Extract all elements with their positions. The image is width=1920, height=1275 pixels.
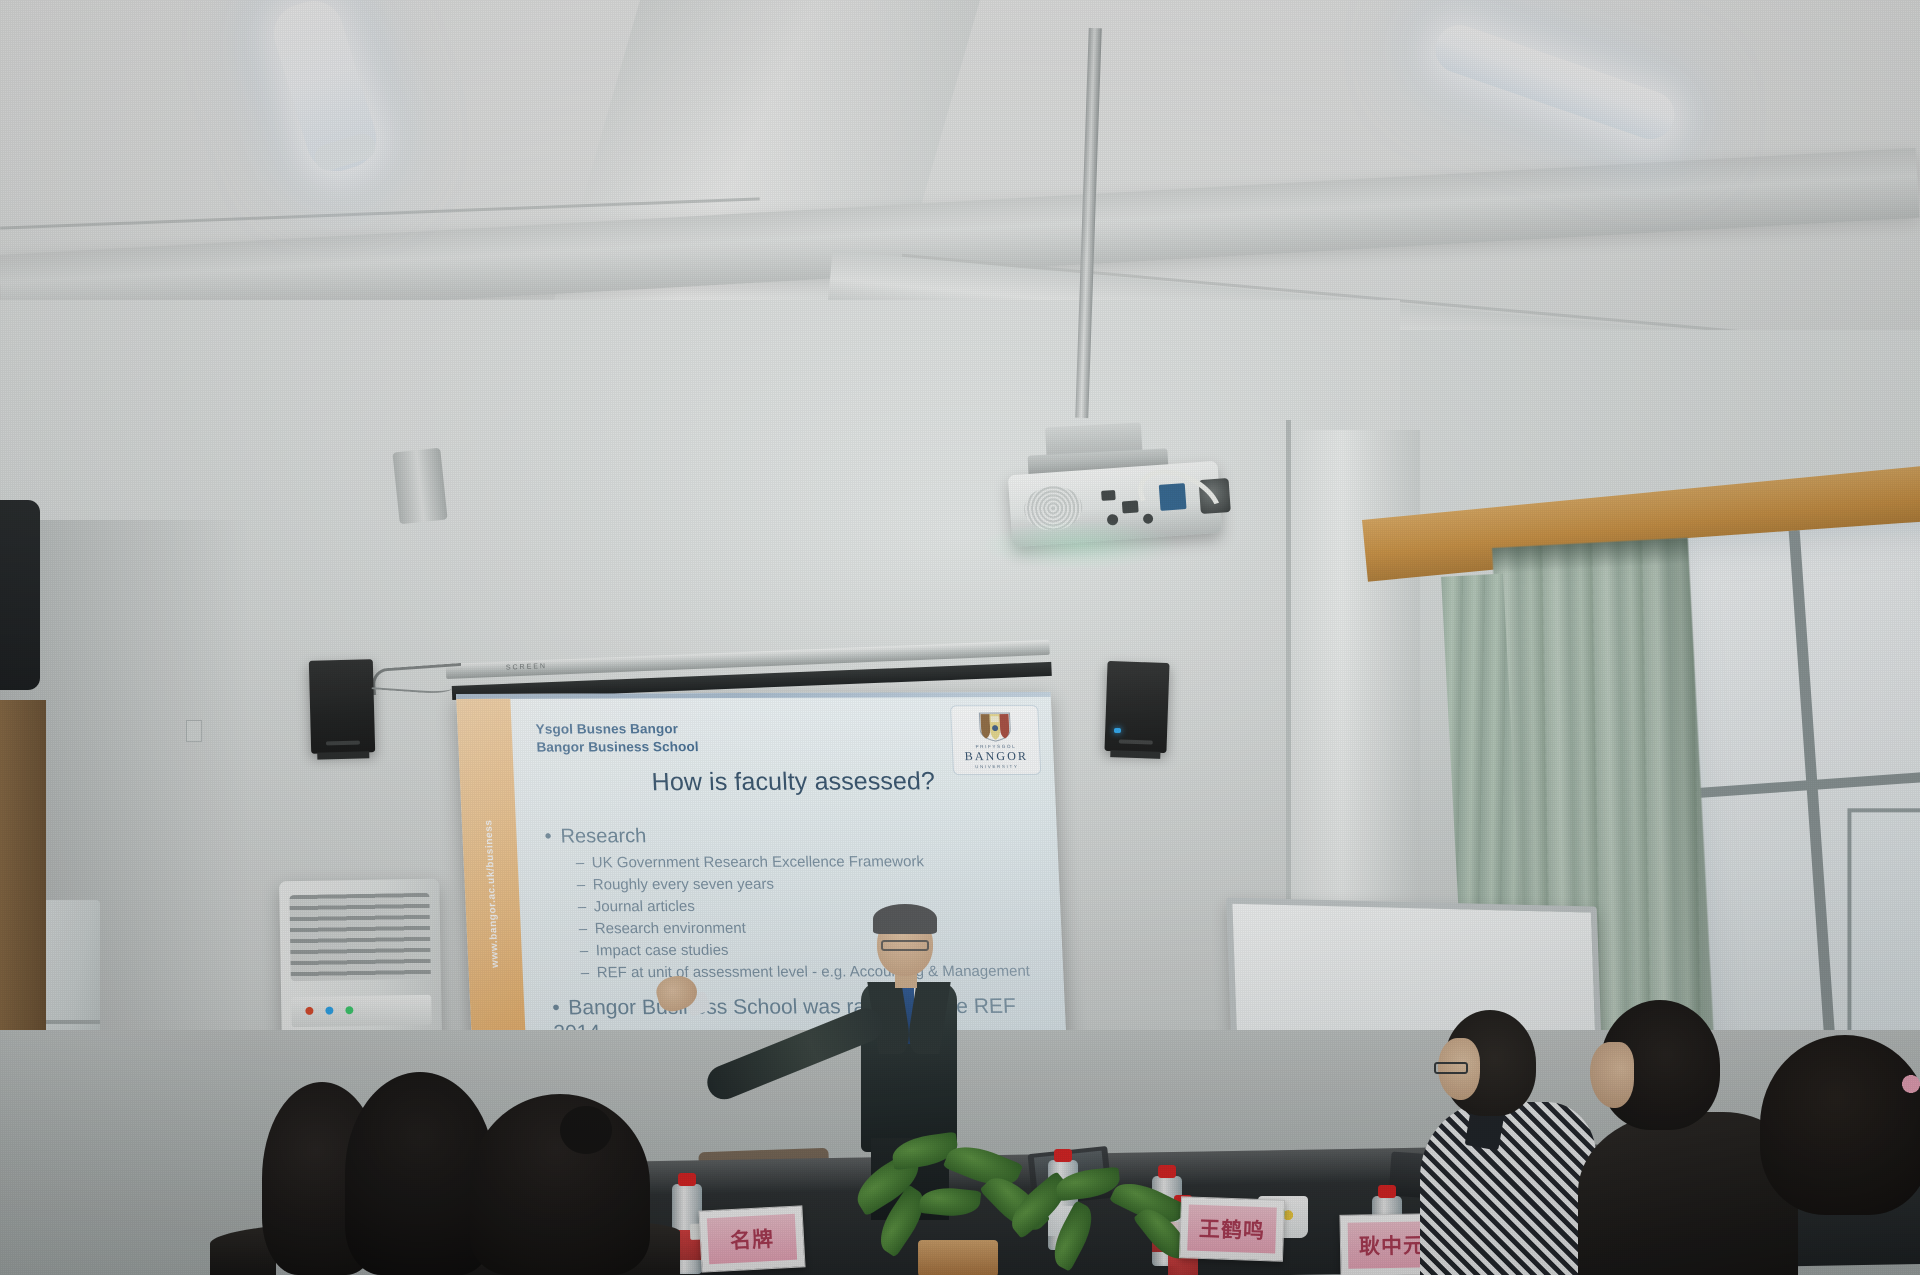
projector-port-2 — [1122, 500, 1139, 513]
lecture-room-photo: SCREEN www.bangor.ac.uk/business PRIFYSG… — [0, 0, 1920, 1275]
presenter-hair — [873, 904, 937, 934]
glasses-icon — [881, 940, 929, 951]
bullet-level2-item: –Roughly every seven years — [576, 874, 1043, 893]
name-tent: 王鹤鸣 — [1179, 1196, 1285, 1262]
bullet-text: Research — [560, 825, 647, 847]
dash-icon: – — [578, 920, 595, 937]
dash-icon: – — [575, 854, 592, 871]
bullet-level2-item: –REF at unit of assessment level - e.g. … — [580, 962, 1047, 981]
wall-speaker-right — [1104, 661, 1169, 753]
plant-leaf — [919, 1185, 982, 1219]
wall-speaker-left — [309, 659, 375, 754]
bullet-text: UK Government Research Excellence Framew… — [591, 853, 924, 871]
slide-surface: www.bangor.ac.uk/business PRIFYSGOL BANG… — [456, 692, 1068, 1088]
ac-led-red — [305, 1007, 313, 1015]
bullet-dot-icon: • — [544, 825, 561, 848]
foreground-attendee-head-3 — [470, 1094, 650, 1275]
dash-icon: – — [576, 876, 593, 893]
plant-pot — [918, 1240, 998, 1275]
attendee-torso — [1420, 1102, 1596, 1275]
speaker-grille — [326, 741, 360, 746]
hair-bun — [560, 1106, 612, 1154]
bullet-text: Roughly every seven years — [592, 875, 774, 893]
dash-icon: – — [579, 942, 596, 959]
wall-socket — [186, 720, 202, 742]
bullet-level1-research: •Research — [544, 823, 1041, 848]
attendee-with-hairpiece — [1760, 1035, 1920, 1275]
slide-org-line-1: Ysgol Busnes Bangor — [535, 719, 1036, 739]
bullet-level2-item: –Impact case studies — [579, 940, 1046, 959]
attendee-dark-jacket — [1590, 1000, 1780, 1275]
name-tent-text: 耿中元 — [1359, 1229, 1426, 1260]
projector-light-spill — [980, 520, 1180, 570]
ac-control-panel[interactable] — [291, 995, 432, 1027]
name-tent-text: 王鹤鸣 — [1198, 1213, 1265, 1245]
speaker-power-led — [1114, 728, 1121, 733]
name-tent-panel: 王鹤鸣 — [1187, 1204, 1277, 1253]
bullet-level2-item: –Journal articles — [577, 896, 1044, 915]
bullet-text: REF at unit of assessment level - e.g. A… — [596, 962, 1030, 980]
ac-vent-louvers — [289, 893, 430, 981]
slide-org-line-2: Bangor Business School — [536, 737, 1037, 757]
slide-content: Ysgol Busnes Bangor Bangor Business Scho… — [510, 697, 1068, 1087]
attendee-checked-shirt — [1420, 1010, 1570, 1275]
dash-icon: – — [580, 964, 597, 981]
attendee-face — [1590, 1042, 1634, 1108]
bullet-level2-item: –UK Government Research Excellence Frame… — [575, 852, 1042, 871]
ac-led-green — [345, 1006, 353, 1014]
ac-led-blue — [325, 1006, 333, 1014]
slide-sidebar-url: www.bangor.ac.uk/business — [483, 819, 501, 967]
bullet-text: Impact case studies — [595, 941, 728, 958]
slide-title: How is faculty assessed? — [547, 767, 1039, 798]
roller-brand-label: SCREEN — [506, 663, 547, 672]
name-tent-panel: 名牌 — [707, 1214, 797, 1265]
bullet-level2-item: –Research environment — [578, 918, 1045, 937]
projection-screen: www.bangor.ac.uk/business PRIFYSGOL BANG… — [456, 692, 1068, 1088]
speaker-grille — [1119, 739, 1153, 744]
dash-icon: – — [577, 898, 594, 915]
bullet-dot-icon: • — [552, 995, 569, 1021]
window-mullion-vertical — [1789, 530, 1839, 1089]
projector-port-1 — [1101, 490, 1116, 501]
door-frame[interactable] — [0, 700, 46, 1030]
bullet-text: Journal articles — [593, 898, 695, 915]
name-tent-text: 名牌 — [729, 1223, 775, 1255]
glasses-icon — [1434, 1062, 1468, 1074]
speaker-foot — [318, 751, 369, 759]
name-tent: 名牌 — [698, 1205, 805, 1272]
window-mullion-horizontal — [1686, 768, 1920, 799]
bullet-text: Research environment — [594, 919, 746, 937]
floral-hairpiece — [1890, 1061, 1920, 1107]
left-wall-fixture — [0, 500, 40, 690]
light-fixture-housing — [392, 448, 447, 525]
